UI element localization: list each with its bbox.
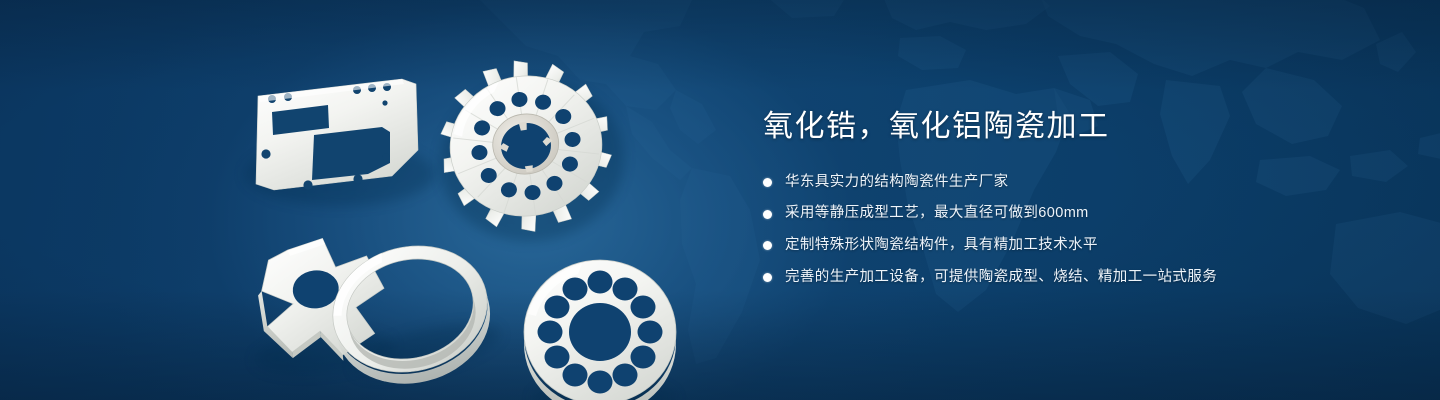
bullet-dot-icon bbox=[763, 178, 772, 187]
list-item: 华东具实力的结构陶瓷件生产厂家 bbox=[763, 172, 1363, 194]
feature-text: 完善的生产加工设备，可提供陶瓷成型、烧结、精加工一站式服务 bbox=[785, 267, 1217, 289]
banner-copy: 氧化锆，氧化铝陶瓷加工 华东具实力的结构陶瓷件生产厂家 采用等静压成型工艺，最大… bbox=[763, 108, 1363, 289]
promo-banner: 氧化锆，氧化铝陶瓷加工 华东具实力的结构陶瓷件生产厂家 采用等静压成型工艺，最大… bbox=[0, 0, 1440, 400]
feature-text: 定制特殊形状陶瓷结构件，具有精加工技术水平 bbox=[785, 235, 1098, 257]
feature-text: 华东具实力的结构陶瓷件生产厂家 bbox=[785, 172, 1009, 194]
bullet-dot-icon bbox=[763, 241, 772, 250]
feature-list: 华东具实力的结构陶瓷件生产厂家 采用等静压成型工艺，最大直径可做到600mm 定… bbox=[763, 172, 1363, 289]
list-item: 定制特殊形状陶瓷结构件，具有精加工技术水平 bbox=[763, 235, 1363, 257]
bullet-dot-icon bbox=[763, 210, 772, 219]
banner-headline: 氧化锆，氧化铝陶瓷加工 bbox=[763, 108, 1363, 146]
list-item: 完善的生产加工设备，可提供陶瓷成型、烧结、精加工一站式服务 bbox=[763, 267, 1363, 289]
bullet-dot-icon bbox=[763, 273, 772, 282]
feature-text: 采用等静压成型工艺，最大直径可做到600mm bbox=[785, 203, 1089, 225]
list-item: 采用等静压成型工艺，最大直径可做到600mm bbox=[763, 203, 1363, 225]
